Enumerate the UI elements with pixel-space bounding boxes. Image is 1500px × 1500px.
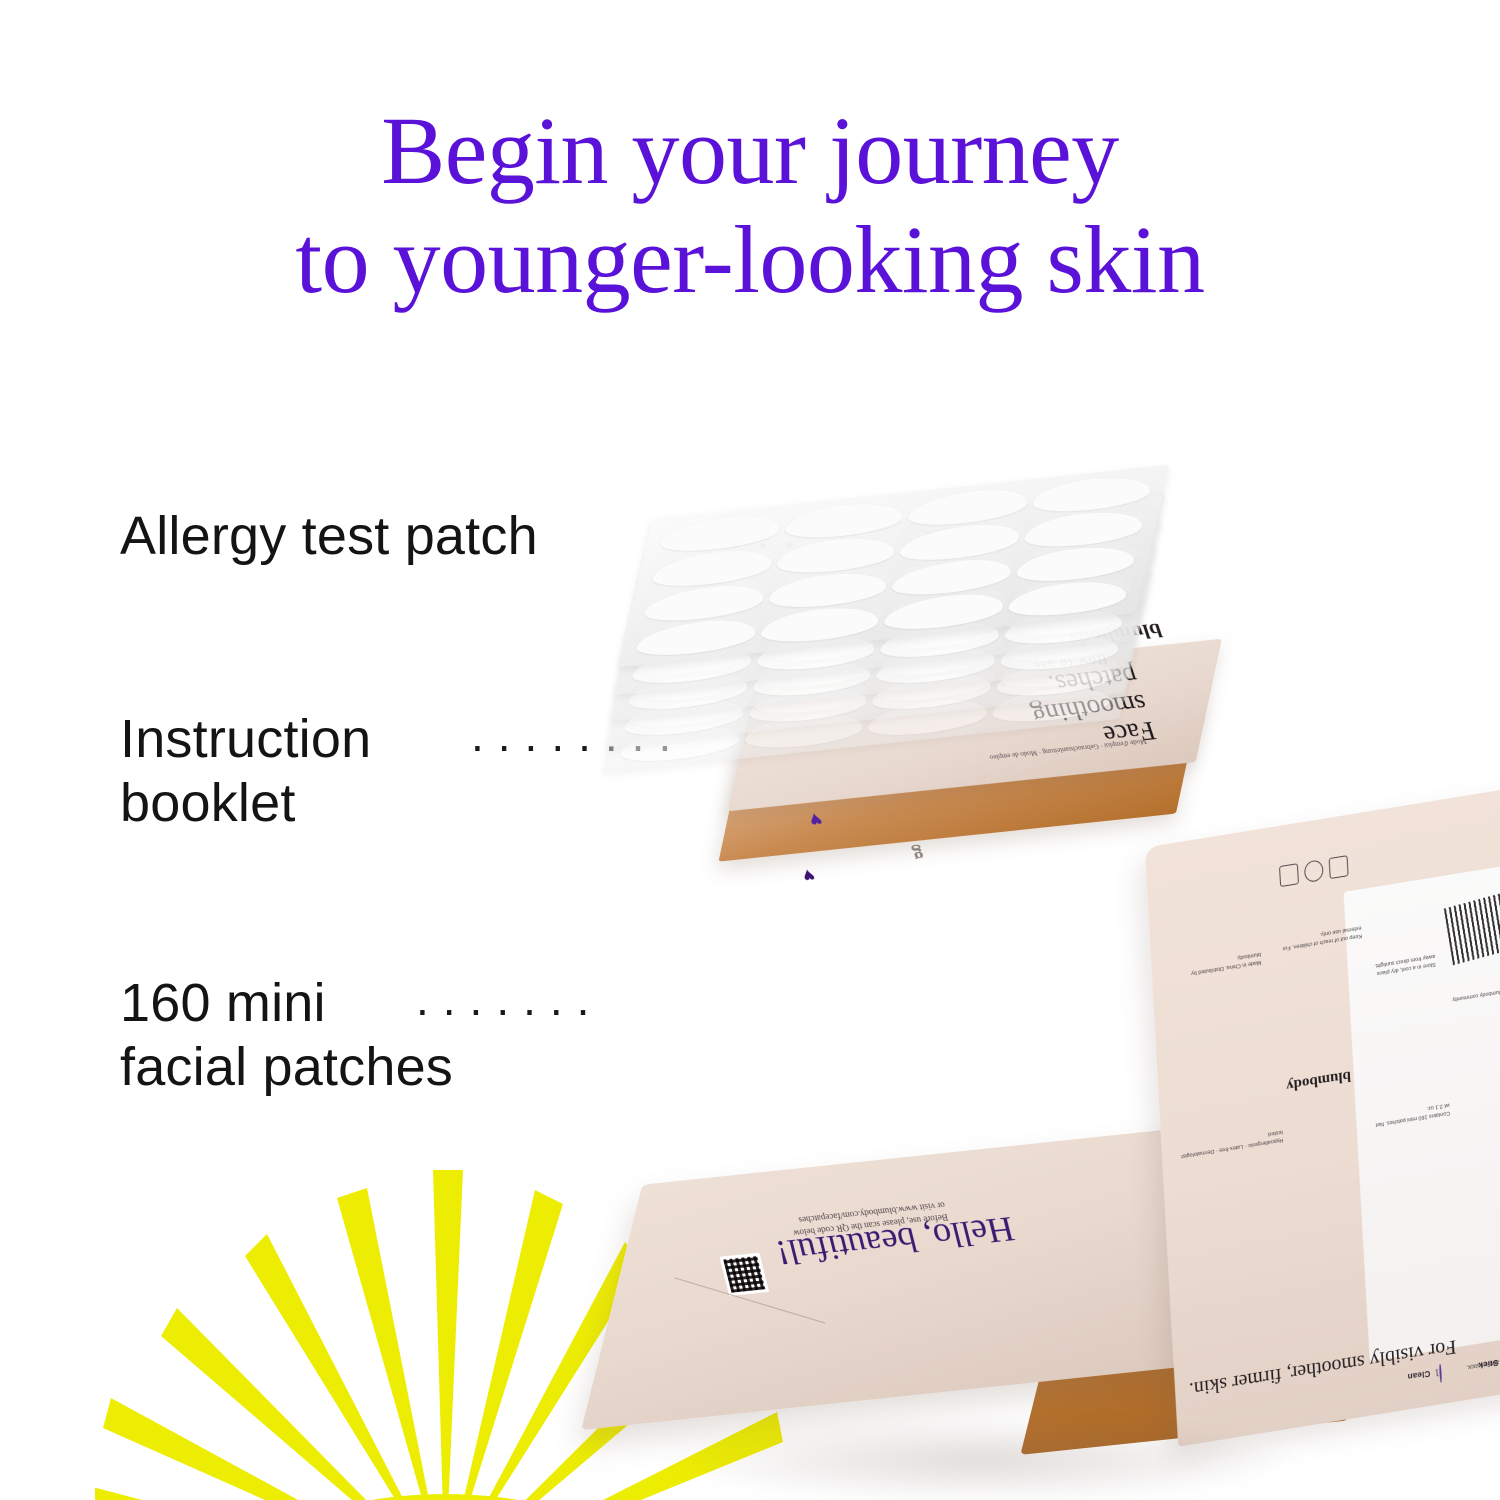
callout-leader-count: .......: [400, 972, 603, 1026]
recycle-icon: [1279, 864, 1299, 888]
heart-icon: ♥: [806, 807, 825, 831]
flap-fineprint: Hypoallergenic · Latex-free · Dermatolog…: [1177, 1128, 1283, 1161]
callout-allergy-test-patch: Allergy test patch: [120, 505, 538, 569]
box-lid-panel: Hello, beautiful! Before use, please sca…: [581, 1120, 1259, 1430]
product-composition: blumbody Test patch. ♥ g ♥ blumbody How …: [620, 430, 1500, 1500]
page-headline: Begin your journey to younger-looking sk…: [0, 96, 1500, 315]
step-label: Clean: [1407, 1369, 1430, 1382]
step-clean: 1 Clean: [1388, 1270, 1456, 1390]
compliance-icons: [1276, 853, 1349, 891]
drop-shadow: [660, 1415, 1300, 1500]
promo-canvas: Begin your journey to younger-looking sk…: [0, 0, 1500, 1500]
booklet-back-letter: g: [910, 843, 927, 866]
callout-instruction-booklet: Instruction booklet: [120, 708, 371, 835]
brand-logo-text: blumbody: [1286, 1066, 1352, 1093]
qr-code-icon: [719, 1253, 769, 1296]
callout-label-line1: Instruction: [120, 708, 371, 772]
heart-icon: ♥: [799, 863, 817, 886]
callout-label-line2: facial patches: [120, 1036, 453, 1100]
leader-dots: .......: [400, 972, 603, 1026]
box-back-flap: Made in China. Distributed by blumbody. …: [1145, 783, 1500, 1446]
flap-fineprint: Made in China. Distributed by blumbody.: [1169, 950, 1261, 981]
callout-label-line1: Allergy test patch: [120, 505, 538, 569]
period-after-opening-icon: [1304, 860, 1324, 884]
callout-label-line2: booklet: [120, 772, 371, 836]
leaflet-icon: [1329, 856, 1349, 880]
step-number: 1: [1434, 1366, 1440, 1378]
